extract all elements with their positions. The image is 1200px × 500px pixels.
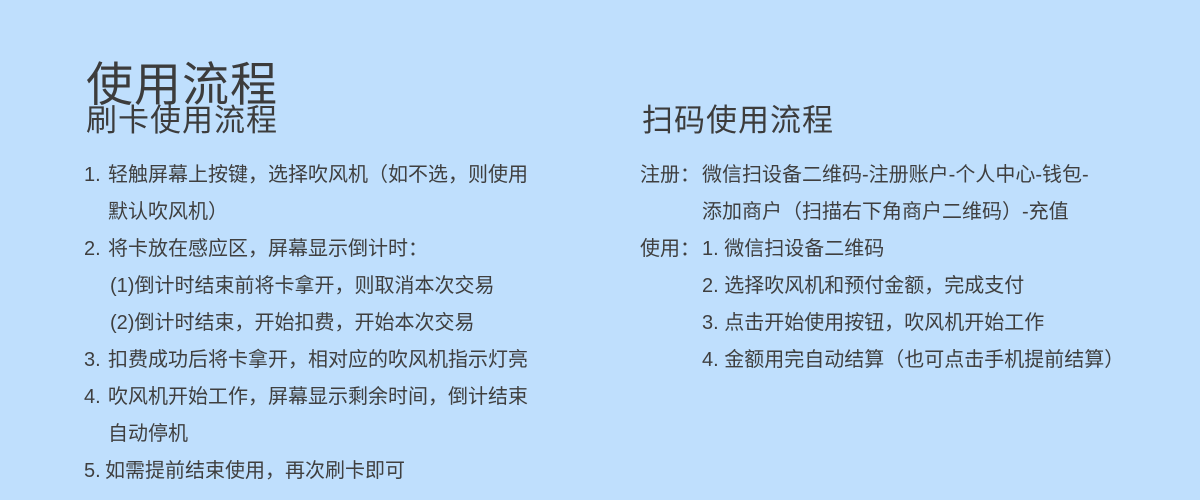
list-item: 4. 金额用完自动结算（也可点击手机提前结算） [702,342,1170,379]
step-text-line: 默认吹风机） [108,201,228,223]
list-item: 4. 吹风机开始工作，屏幕显示剩余时间，倒计结束 自动停机 [84,379,584,453]
list-item: 3. 点击开始使用按钮，吹风机开始工作 [702,305,1170,342]
list-item: (2)倒计时结束，开始扣费，开始本次交易 [110,305,584,342]
list-item: 5. 如需提前结束使用，再次刷卡即可 [84,453,584,490]
step-marker: 4. [84,379,101,416]
step-text-line: 将卡放在感应区，屏幕显示倒计时： [108,238,428,260]
list-item: 2. 选择吹风机和预付金额，完成支付 [702,268,1170,305]
step-text-line: 吹风机开始工作，屏幕显示剩余时间，倒计结束 [108,386,528,408]
card-swipe-step-list: 1. 轻触屏幕上按键，选择吹风机（如不选，则使用 默认吹风机） 2. 将卡放在感… [84,157,584,490]
register-row: 注册： 微信扫设备二维码-注册账户-个人中心-钱包- 添加商户（扫描右下角商户二… [640,157,1170,231]
list-item: 2. 将卡放在感应区，屏幕显示倒计时： (1)倒计时结束前将卡拿开，则取消本次交… [84,231,584,342]
register-text-line: 添加商户（扫描右下角商户二维码）-充值 [702,194,1170,231]
step-marker: 5. [84,453,101,490]
usage-label: 使用： [640,231,702,268]
usage-row: 使用： 1. 微信扫设备二维码 2. 选择吹风机和预付金额，完成支付 3. 点击… [640,231,1170,379]
step-marker: 3. [84,342,101,379]
register-body: 微信扫设备二维码-注册账户-个人中心-钱包- 添加商户（扫描右下角商户二维码）-… [702,157,1170,231]
card-swipe-flow-column: 刷卡使用流程 1. 轻触屏幕上按键，选择吹风机（如不选，则使用 默认吹风机） 2… [84,102,584,490]
qr-code-flow-column: 扫码使用流程 注册： 微信扫设备二维码-注册账户-个人中心-钱包- 添加商户（扫… [640,102,1170,379]
step-text-line: 如需提前结束使用，再次刷卡即可 [105,460,405,482]
step-2-sub-list: (1)倒计时结束前将卡拿开，则取消本次交易 (2)倒计时结束，开始扣费，开始本次… [108,268,584,342]
usage-step-list: 1. 微信扫设备二维码 2. 选择吹风机和预付金额，完成支付 3. 点击开始使用… [702,231,1170,379]
usage-body: 1. 微信扫设备二维码 2. 选择吹风机和预付金额，完成支付 3. 点击开始使用… [702,231,1170,379]
register-text-line: 微信扫设备二维码-注册账户-个人中心-钱包- [702,157,1170,194]
list-item: 1. 微信扫设备二维码 [702,231,1170,268]
step-text-line: 扣费成功后将卡拿开，相对应的吹风机指示灯亮 [108,349,528,371]
list-item: (1)倒计时结束前将卡拿开，则取消本次交易 [110,268,584,305]
list-item: 1. 轻触屏幕上按键，选择吹风机（如不选，则使用 默认吹风机） [84,157,584,231]
card-swipe-flow-heading: 刷卡使用流程 [86,102,584,141]
register-label: 注册： [640,157,702,194]
step-text-line: 轻触屏幕上按键，选择吹风机（如不选，则使用 [108,164,528,186]
list-item: 3. 扣费成功后将卡拿开，相对应的吹风机指示灯亮 [84,342,584,379]
usage-flow-page: 使用流程 刷卡使用流程 1. 轻触屏幕上按键，选择吹风机（如不选，则使用 默认吹… [0,0,1200,500]
step-marker: 1. [84,157,101,194]
step-marker: 2. [84,231,101,268]
qr-code-flow-heading: 扫码使用流程 [642,102,1170,141]
step-text-line: 自动停机 [108,423,188,445]
